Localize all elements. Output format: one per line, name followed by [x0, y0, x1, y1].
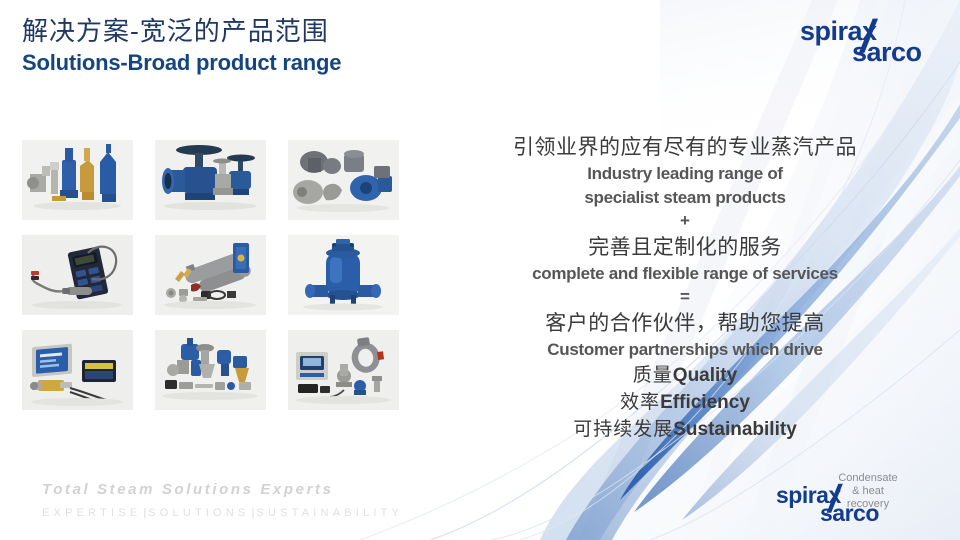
product-image-flow-metering-systems: [288, 330, 399, 410]
portable-test-instrument-icon: [22, 235, 133, 315]
message-line-8: 客户的合作伙伴，帮助您提高: [480, 308, 890, 338]
message-pillar-sustainability: 可持续发展Sustainability: [480, 416, 890, 443]
heat-exchangers-packages-icon: [155, 235, 266, 315]
control-valves-flanged-icon: [155, 140, 266, 220]
pillar-quality-cn: 质量: [633, 364, 673, 386]
page-title: 解决方案-宽泛的产品范围 Solutions-Broad product ran…: [22, 16, 341, 77]
slide-canvas: 解决方案-宽泛的产品范围 Solutions-Broad product ran…: [0, 0, 960, 540]
page-title-english: Solutions-Broad product range: [22, 49, 341, 77]
footer-pillars: EXPERTISE|SOLUTIONS|SUSTAINABILITY: [42, 507, 403, 519]
message-line-5: 完善且定制化的服务: [480, 232, 890, 262]
product-image-control-valves-flanged: [155, 140, 266, 220]
steam-traps-icon: [288, 140, 399, 220]
product-image-condensate-recovery-pump: [288, 235, 399, 315]
key-message-block: 引领业界的应有尽有的专业蒸汽产品 Industry leading range …: [480, 132, 890, 443]
footer-pillar-solutions: SOLUTIONS: [148, 507, 249, 519]
product-image-portable-test-instrument: [22, 235, 133, 315]
product-image-steam-traps: [288, 140, 399, 220]
page-title-chinese: 解决方案-宽泛的产品范围: [22, 16, 341, 48]
message-pillar-efficiency: 效率Efficiency: [480, 389, 890, 416]
product-image-level-control-systems: [22, 330, 133, 410]
condensate-recovery-pump-icon: [288, 235, 399, 315]
pillar-quality-en: Quality: [673, 365, 737, 386]
level-control-systems-icon: [22, 330, 133, 410]
footer-pillar-sustainability: SUSTAINABILITY: [256, 507, 403, 519]
message-operator-plus: +: [480, 210, 890, 232]
pillar-sustainability-cn: 可持续发展: [573, 418, 673, 440]
footer-branding: Total Steam Solutions Experts EXPERTISE|…: [42, 481, 403, 519]
condensate-recovery-note: Condensate & heat recovery: [824, 472, 912, 511]
control-valve-range-icon: [155, 330, 266, 410]
message-line-6: complete and flexible range of services: [480, 262, 890, 286]
condensate-note-line-3: recovery: [824, 498, 912, 511]
message-line-3: specialist steam products: [480, 186, 890, 210]
spirax-sarco-logo-header: spirax / sarco: [800, 18, 922, 66]
product-image-control-valve-range: [155, 330, 266, 410]
message-line-1: 引领业界的应有尽有的专业蒸汽产品: [480, 132, 890, 162]
flow-metering-systems-icon: [288, 330, 399, 410]
message-pillar-quality: 质量Quality: [480, 362, 890, 389]
safety-relief-valves-icon: [22, 140, 133, 220]
product-image-heat-exchangers-packages: [155, 235, 266, 315]
pillar-efficiency-cn: 效率: [620, 391, 660, 413]
message-line-9: Customer partnerships which drive: [480, 338, 890, 362]
condensate-note-line-2: & heat: [824, 485, 912, 498]
pillar-efficiency-en: Efficiency: [660, 392, 750, 413]
pillar-sustainability-en: Sustainability: [673, 419, 797, 440]
condensate-note-line-1: Condensate: [824, 472, 912, 485]
product-image-safety-relief-valves: [22, 140, 133, 220]
footer-tagline: Total Steam Solutions Experts: [42, 481, 403, 498]
footer-pillar-expertise: EXPERTISE: [42, 507, 141, 519]
product-image-grid: [22, 140, 399, 410]
message-operator-equals: =: [480, 286, 890, 308]
message-line-2: Industry leading range of: [480, 162, 890, 186]
